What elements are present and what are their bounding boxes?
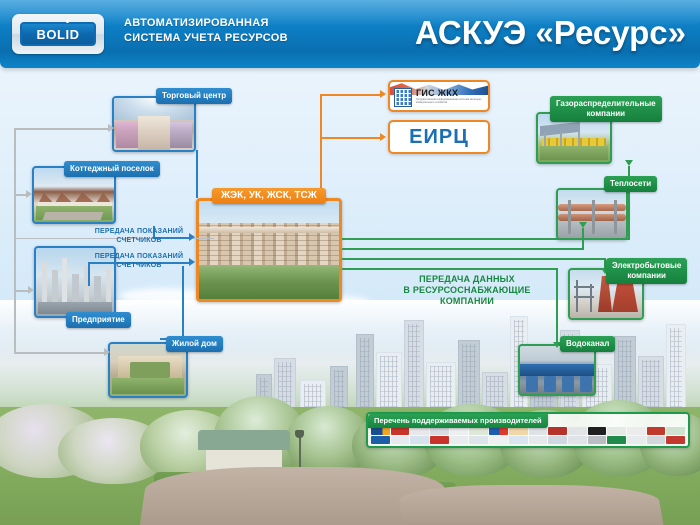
manufacturer-logo[interactable] — [627, 427, 646, 435]
connector-green-heat-h — [342, 248, 584, 250]
arrow-orange-eirc-icon — [380, 133, 386, 141]
arrow-gray-house-icon — [104, 348, 110, 356]
page-title: АСКУЭ «Ресурс» — [415, 8, 686, 58]
manufacturer-logo-grid — [371, 427, 685, 444]
manufacturer-logo[interactable] — [627, 436, 646, 444]
manufacturer-logo[interactable] — [371, 427, 390, 435]
label-shopping-mall: Торговый центр — [156, 88, 232, 104]
header-subtitle: АВТОМАТИЗИРОВАННАЯ СИСТЕМА УЧЕТА РЕСУРСО… — [124, 16, 288, 46]
connector-green-gas-h — [342, 238, 630, 240]
manufacturer-logo[interactable] — [588, 436, 607, 444]
label-gas-distribution: Газораспределительные компании — [550, 96, 662, 122]
label-water-utility: Водоканал — [560, 336, 615, 352]
flow-label-meter-reading-1: ПЕРЕДАЧА ПОКАЗАНИЙ СЧЕТЧИКОВ — [86, 227, 192, 245]
flow-label-meter-reading-2: ПЕРЕДАЧА ПОКАЗАНИЙ СЧЕТЧИКОВ — [86, 252, 192, 270]
label-center-badge: ЖЭК, УК, ЖСК, ТСЖ — [212, 188, 326, 204]
arrow-green-gas-icon — [625, 160, 633, 166]
connector-gray-to-mall — [14, 128, 110, 130]
manufacturer-logo[interactable] — [529, 427, 548, 435]
arrow-gray-plant-icon — [28, 286, 34, 294]
arrow-gray-cottage-icon — [26, 190, 32, 198]
flow-label-data-to-suppliers: ПЕРЕДАЧА ДАННЫХ В РЕСУРСОСНАБЖАЮЩИЕ КОМП… — [374, 274, 560, 307]
manufacturers-caption: Перечень поддерживаемых производителей — [368, 414, 548, 428]
manufacturer-logo[interactable] — [391, 436, 410, 444]
manufacturer-logo[interactable] — [548, 436, 567, 444]
manufacturer-logo[interactable] — [430, 427, 449, 435]
manufacturer-logo[interactable] — [430, 436, 449, 444]
manufacturer-logo[interactable] — [509, 427, 528, 435]
header-bar: BOLID АВТОМАТИЗИРОВАННАЯ СИСТЕМА УЧЕТА Р… — [0, 0, 700, 68]
manufacturer-logo[interactable] — [450, 427, 469, 435]
label-industrial-plant: Предприятие — [66, 312, 131, 328]
manufacturer-logo[interactable] — [607, 427, 626, 435]
manufacturer-logo[interactable] — [391, 427, 410, 435]
manufacturer-logo[interactable] — [489, 436, 508, 444]
manufacturer-logo[interactable] — [666, 427, 685, 435]
connector-blue-mall-down — [196, 150, 198, 198]
arrow-gray-mall-icon — [108, 124, 114, 132]
gis-zhkh-title: ГИС ЖКХ — [416, 88, 458, 98]
connector-orange-eirc — [320, 137, 382, 139]
manufacturer-logo[interactable] — [607, 436, 626, 444]
label-cottage-village: Коттеджный поселок — [64, 161, 160, 177]
photo-center-apartment-building — [196, 198, 342, 302]
arrow-orange-gis-icon — [380, 90, 386, 98]
connector-gray-vertical — [14, 128, 16, 238]
manufacturer-logo[interactable] — [529, 436, 548, 444]
photo-shopping-mall — [112, 96, 196, 152]
connector-green-water-h — [342, 268, 558, 270]
connector-orange-gis — [320, 94, 382, 96]
manufacturer-logo[interactable] — [469, 436, 488, 444]
connector-gray-to-house — [14, 352, 106, 354]
manufacturer-logo[interactable] — [588, 427, 607, 435]
gis-zhkh-subtitle: Государственная информационная система ж… — [416, 98, 485, 105]
manufacturer-logo[interactable] — [666, 436, 685, 444]
label-residential-complex: Жилой дом — [166, 336, 223, 352]
manufacturer-logo[interactable] — [410, 436, 429, 444]
manufacturer-logo[interactable] — [410, 427, 429, 435]
connector-blue-house-up — [182, 266, 184, 338]
header-subtitle-line1: АВТОМАТИЗИРОВАННАЯ — [124, 16, 288, 31]
bolid-logo-text: BOLID — [37, 28, 80, 41]
eirc-title: ЕИРЦ — [390, 122, 488, 152]
gis-zhkh-box[interactable]: ГИС ЖКХ Государственная информационная с… — [388, 80, 490, 112]
manufacturer-logo[interactable] — [647, 436, 666, 444]
connector-green-power-h — [342, 258, 606, 260]
bolid-logo-icon[interactable]: BOLID — [12, 14, 104, 54]
connector-orange-vertical — [320, 94, 322, 198]
manufacturers-panel[interactable]: Перечень поддерживаемых производителей — [366, 412, 690, 448]
eirc-box[interactable]: ЕИРЦ — [388, 120, 490, 154]
manufacturer-logo[interactable] — [450, 436, 469, 444]
label-heat-network: Теплосети — [604, 176, 657, 192]
label-power-companies: Электробытовые компании — [606, 258, 687, 284]
connector-green-heat-v — [582, 228, 584, 249]
poster-root: BOLID АВТОМАТИЗИРОВАННАЯ СИСТЕМА УЧЕТА Р… — [0, 0, 700, 525]
manufacturer-logo[interactable] — [371, 436, 390, 444]
header-subtitle-line2: СИСТЕМА УЧЕТА РЕСУРСОВ — [124, 31, 288, 46]
manufacturer-logo[interactable] — [548, 427, 567, 435]
connector-gray-vertical-2 — [14, 238, 16, 352]
manufacturer-logo[interactable] — [647, 427, 666, 435]
manufacturer-logo[interactable] — [568, 436, 587, 444]
manufacturer-logo[interactable] — [509, 436, 528, 444]
manufacturer-logo[interactable] — [568, 427, 587, 435]
photo-heat-network — [556, 188, 628, 240]
gis-zhkh-building-icon — [394, 88, 412, 107]
manufacturer-logo[interactable] — [489, 427, 508, 435]
bolid-logo-dot-icon — [66, 20, 69, 23]
arrow-green-heat-icon — [579, 222, 587, 228]
manufacturer-logo[interactable] — [469, 427, 488, 435]
